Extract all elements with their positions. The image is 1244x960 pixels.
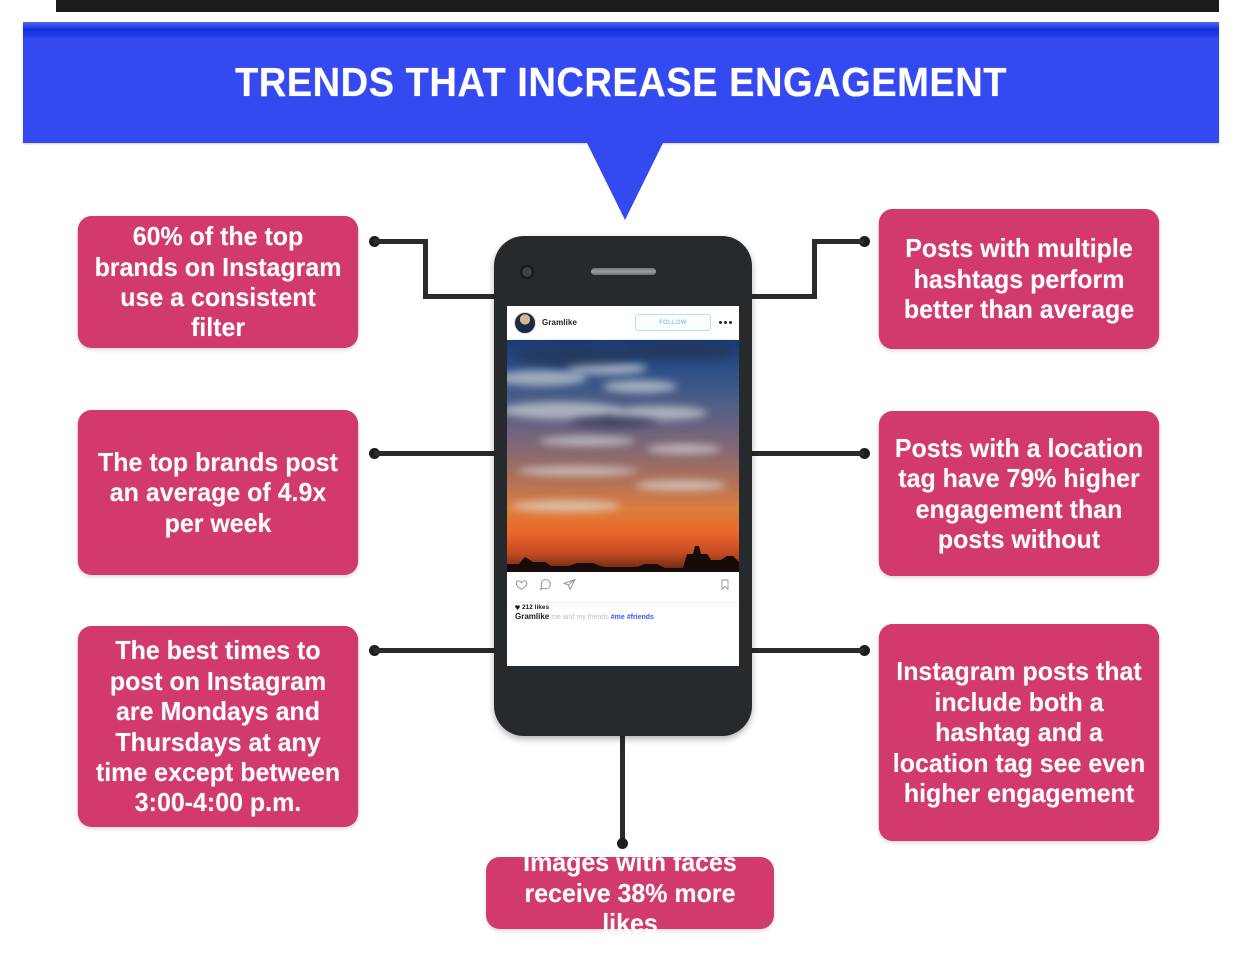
connector-right-2-h	[746, 451, 864, 456]
post-likes: 212 likes	[515, 604, 731, 611]
heart-small-icon	[515, 605, 520, 610]
connector-left-1-v	[423, 239, 428, 299]
post-username[interactable]: Gramlike	[542, 318, 577, 327]
fact-box-left-3[interactable]: The best times to post on Instagram are …	[78, 626, 358, 827]
post-hashtag-1[interactable]: #me	[611, 614, 625, 621]
fact-box-right-3[interactable]: Instagram posts that include both a hash…	[879, 624, 1159, 841]
avatar[interactable]	[514, 312, 536, 334]
fact-box-right-2-text: Posts with a location tag have 79% highe…	[892, 433, 1145, 555]
post-likes-text: 212 likes	[522, 604, 549, 611]
post-meta: 212 likes Gramlike me and my friends #me…	[507, 602, 739, 623]
fact-box-right-2[interactable]: Posts with a location tag have 79% highe…	[879, 411, 1159, 576]
connector-right-1-h1	[812, 239, 864, 244]
connector-left-3-h	[374, 648, 500, 653]
post-header: Gramlike FOLLOW	[507, 306, 739, 340]
comment-icon[interactable]	[539, 578, 552, 596]
phone-screen: Gramlike FOLLOW	[507, 306, 739, 666]
post-caption: Gramlike me and my friends #me #friends	[515, 612, 731, 623]
speaker-grille	[591, 268, 656, 275]
fact-box-bottom-text: Images with faces receive 38% more likes	[499, 847, 760, 938]
connector-bottom-v	[620, 736, 625, 843]
header-banner: TRENDS THAT INCREASE ENGAGEMENT	[23, 22, 1219, 143]
top-black-bar	[56, 0, 1219, 12]
fact-box-right-1-text: Posts with multiple hashtags perform bet…	[892, 233, 1145, 324]
connector-right-1-h2	[744, 294, 817, 299]
fact-box-left-3-text: The best times to post on Instagram are …	[91, 635, 344, 817]
bookmark-icon[interactable]	[719, 578, 731, 596]
connector-left-2-h	[374, 451, 500, 456]
fact-box-left-2-text: The top brands post an average of 4.9x p…	[91, 447, 344, 538]
fact-box-right-3-text: Instagram posts that include both a hash…	[892, 656, 1145, 808]
connector-left-1-h1	[374, 239, 428, 244]
post-caption-text: me and my friends	[551, 614, 609, 621]
fact-box-left-1-text: 60% of the top brands on Instagram use a…	[91, 221, 344, 343]
connector-right-1-v	[812, 239, 817, 299]
follow-button[interactable]: FOLLOW	[635, 314, 711, 331]
fact-box-left-1[interactable]: 60% of the top brands on Instagram use a…	[78, 216, 358, 348]
post-actions-bar	[507, 572, 739, 602]
heart-icon[interactable]	[515, 578, 528, 596]
fact-box-bottom[interactable]: Images with faces receive 38% more likes	[486, 857, 774, 929]
page-title: TRENDS THAT INCREASE ENGAGEMENT	[65, 22, 1177, 143]
skyline-silhouette	[507, 544, 739, 572]
fact-box-right-1[interactable]: Posts with multiple hashtags perform bet…	[879, 209, 1159, 349]
post-hashtag-2[interactable]: #friends	[627, 614, 654, 621]
post-photo	[507, 340, 739, 572]
share-icon[interactable]	[563, 578, 576, 596]
fact-box-left-2[interactable]: The top brands post an average of 4.9x p…	[78, 410, 358, 575]
phone-mockup: Gramlike FOLLOW	[494, 236, 752, 736]
post-caption-username[interactable]: Gramlike	[515, 612, 549, 621]
camera-icon	[520, 265, 534, 279]
connector-right-3-h	[746, 648, 864, 653]
ellipsis-icon[interactable]	[719, 321, 732, 324]
header-arrow-pointer	[587, 143, 663, 220]
